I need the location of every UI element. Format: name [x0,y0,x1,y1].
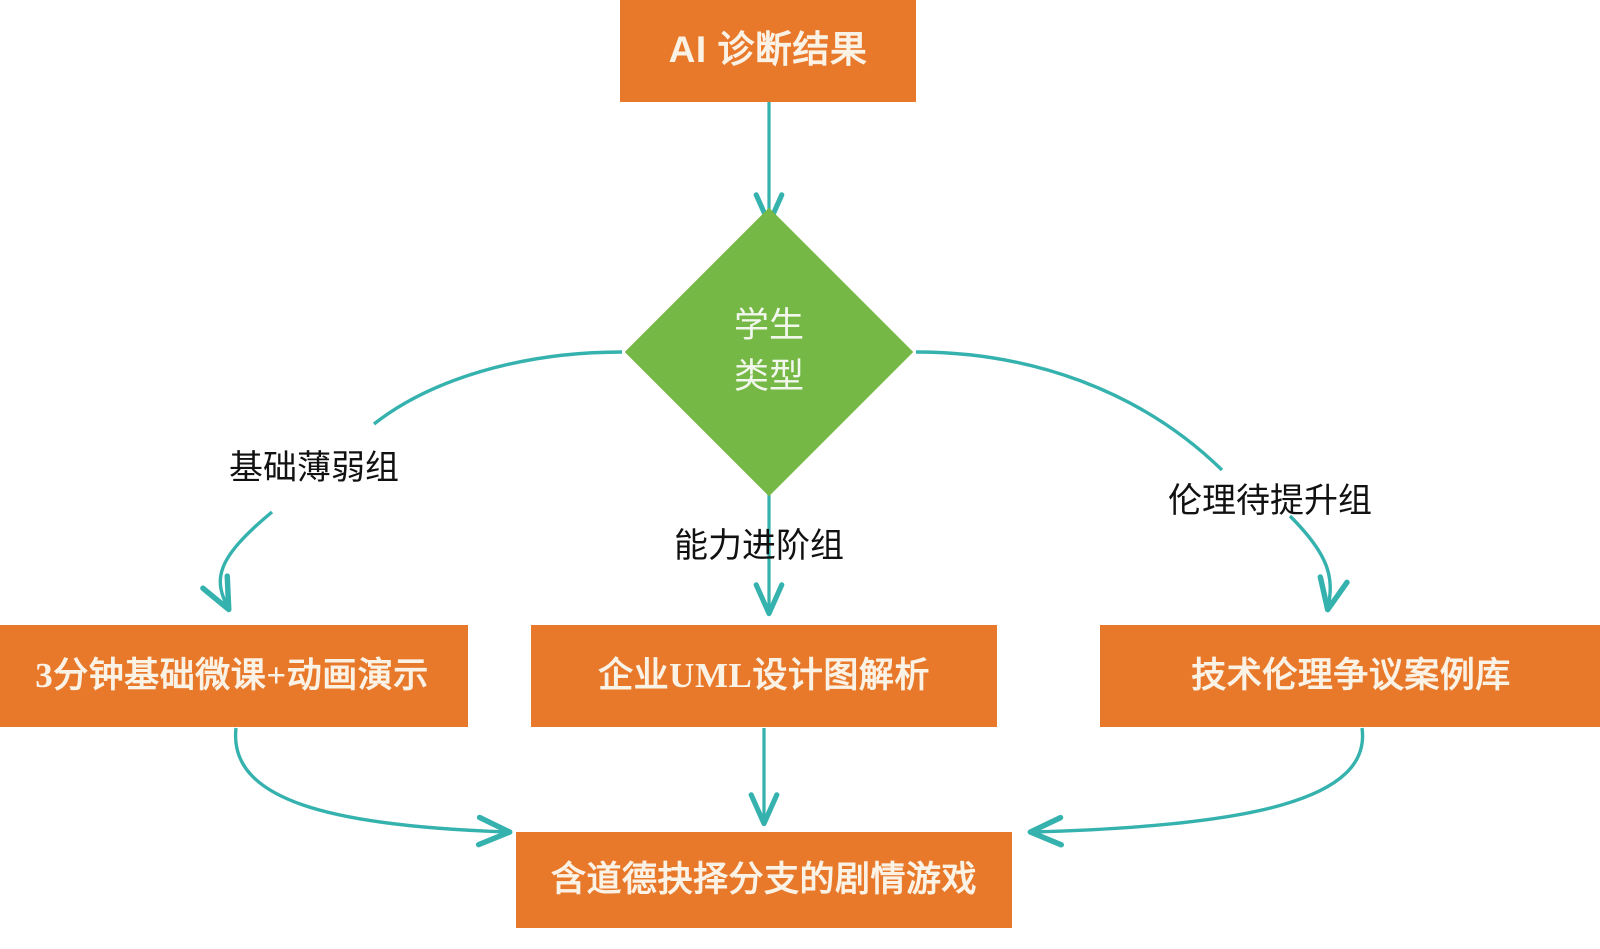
node-branch-center-label: 企业UML设计图解析 [598,656,930,696]
node-branch-center[interactable]: 企业UML设计图解析 [531,625,997,727]
edge-decision-to-right-lower [1290,516,1330,608]
node-end-label: 含道德抉择分支的剧情游戏 [551,860,977,900]
edge-label-center: 能力进阶组 [674,518,844,567]
node-end[interactable]: 含道德抉择分支的剧情游戏 [516,832,1012,928]
node-decision[interactable]: 学生 类型 [667,250,871,454]
node-start-label: AI 诊断结果 [669,29,868,72]
node-decision-label-line2: 类型 [734,352,804,403]
edge-right-to-end [1032,728,1363,832]
edge-label-left: 基础薄弱组 [229,440,399,489]
flowchart-canvas: AI 诊断结果 学生 类型 基础薄弱组 能力进阶组 伦理待提升组 3分钟基础微课… [0,0,1600,949]
node-start[interactable]: AI 诊断结果 [620,0,916,102]
node-decision-label-line1: 学生 [734,301,804,352]
edge-left-to-end [236,728,508,832]
edge-decision-to-left-upper [374,352,622,424]
node-branch-right-label: 技术伦理争议案例库 [1191,656,1511,696]
edge-decision-to-left-lower [220,512,272,608]
edge-decision-to-right-upper [916,352,1222,470]
edge-label-right: 伦理待提升组 [1168,473,1372,522]
node-branch-left[interactable]: 3分钟基础微课+动画演示 [0,625,468,727]
node-branch-right[interactable]: 技术伦理争议案例库 [1100,625,1600,727]
node-decision-label: 学生 类型 [734,301,804,403]
node-branch-left-label: 3分钟基础微课+动画演示 [35,656,428,696]
